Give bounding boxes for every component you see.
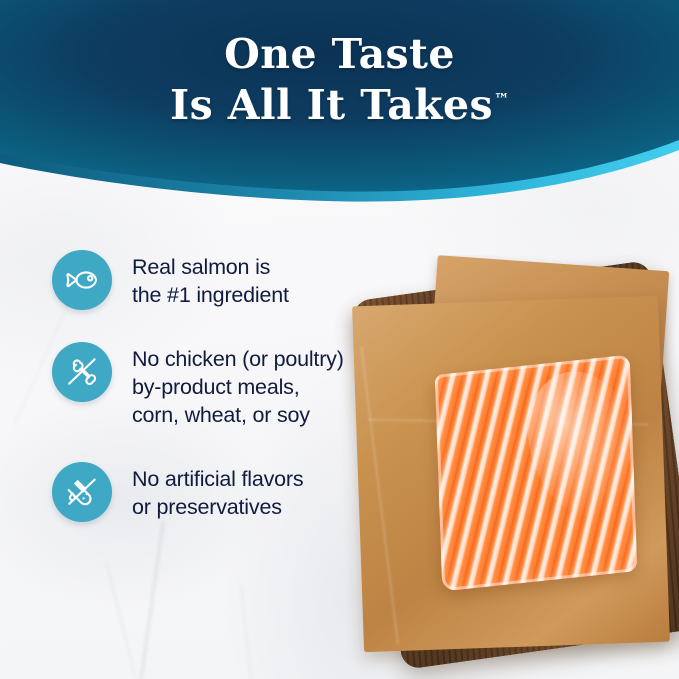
feature-3-line-2: or preservatives (132, 494, 303, 522)
marble-vein (106, 562, 137, 679)
header-banner: One Taste Is All It Takes™ (0, 0, 679, 210)
list-item: No chicken (or poultry) by-product meals… (52, 342, 392, 430)
feature-list: Real salmon is the #1 ingredient No chic… (52, 250, 392, 554)
feature-1-line-1: Real salmon is (132, 254, 289, 282)
marble-vein (240, 585, 252, 679)
list-item-label: No artificial flavors or preservatives (132, 462, 303, 522)
list-item: Real salmon is the #1 ingredient (52, 250, 392, 310)
no-test-tube-icon (52, 462, 112, 522)
banner-shape (0, 0, 679, 210)
list-item-label: No chicken (or poultry) by-product meals… (132, 342, 344, 430)
fish-icon (52, 250, 112, 310)
feature-2-line-2: by-product meals, (132, 374, 344, 402)
feature-2-line-1: No chicken (or poultry) (132, 346, 344, 374)
feature-2-line-3: corn, wheat, or soy (132, 402, 344, 430)
feature-1-line-2: the #1 ingredient (132, 282, 289, 310)
feature-3-line-1: No artificial flavors (132, 466, 303, 494)
promo-infographic: One Taste Is All It Takes™ Real salmon i… (0, 0, 679, 679)
salmon-fillet (435, 355, 637, 592)
no-bone-icon (52, 342, 112, 402)
list-item: No artificial flavors or preservatives (52, 462, 392, 522)
list-item-label: Real salmon is the #1 ingredient (132, 250, 289, 310)
